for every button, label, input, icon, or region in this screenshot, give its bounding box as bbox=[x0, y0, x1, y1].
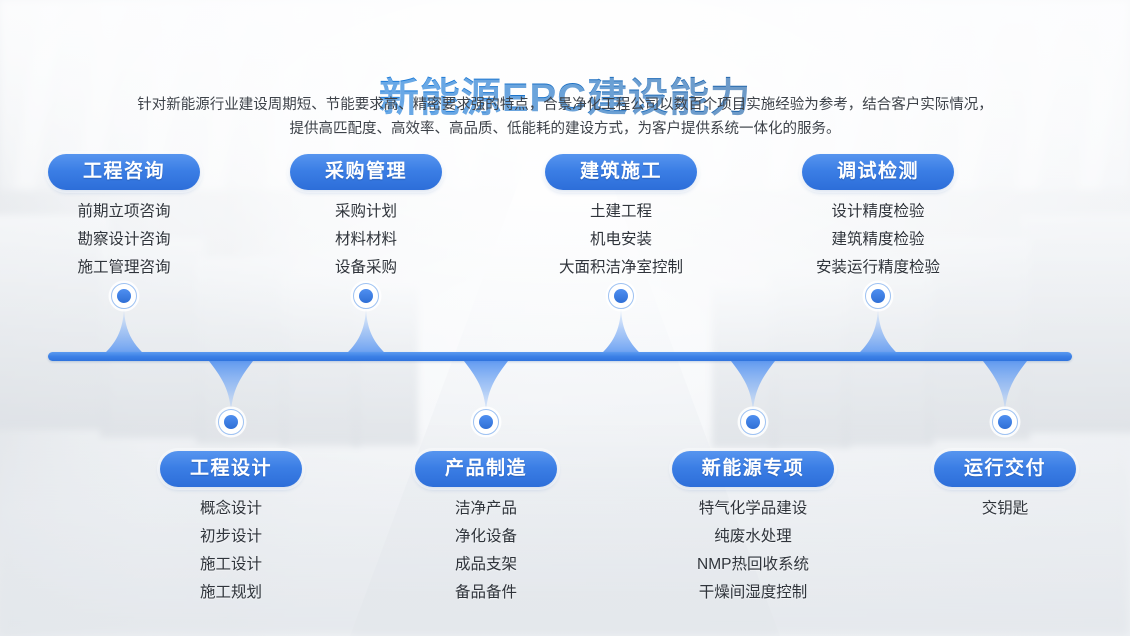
node-items-new-energy-special: 特气化学品建设 纯废水处理 NMP热回收系统 干燥间湿度控制 bbox=[663, 495, 843, 607]
timeline-node-dot-construction[interactable] bbox=[608, 283, 634, 309]
list-item: 设计精度检验 bbox=[790, 198, 966, 226]
infographic-canvas: 新能源EPC建设能力 针对新能源行业建设周期短、节能要求高、精密要求强的特点，合… bbox=[0, 0, 1130, 636]
timeline-node-dot-operation-delivery[interactable] bbox=[992, 409, 1018, 435]
content-layer: 新能源EPC建设能力 针对新能源行业建设周期短、节能要求高、精密要求强的特点，合… bbox=[0, 0, 1130, 636]
timeline-node-dot-product-manufacturing[interactable] bbox=[473, 409, 499, 435]
list-item: 初步设计 bbox=[160, 523, 302, 551]
node-pill-operation-delivery[interactable]: 运行交付 bbox=[934, 451, 1076, 487]
list-item: 施工管理咨询 bbox=[48, 254, 200, 282]
node-items-engineering-design: 概念设计 初步设计 施工设计 施工规划 bbox=[160, 495, 302, 607]
list-item: 洁净产品 bbox=[415, 495, 557, 523]
list-item: 备品备件 bbox=[415, 579, 557, 607]
node-items-product-manufacturing: 洁净产品 净化设备 成品支架 备品备件 bbox=[415, 495, 557, 607]
list-item: 施工规划 bbox=[160, 579, 302, 607]
list-item: 土建工程 bbox=[521, 198, 721, 226]
subtitle-line-2: 提供高匹配度、高效率、高品质、低能耗的建设方式，为客户提供系统一体化的服务。 bbox=[70, 117, 1060, 141]
connector-engineering-design bbox=[209, 361, 253, 413]
timeline-bar bbox=[48, 352, 1072, 361]
connector-commissioning-inspection bbox=[856, 309, 900, 356]
connector-new-energy-special bbox=[731, 361, 775, 413]
list-item: 概念设计 bbox=[160, 495, 302, 523]
node-items-engineering-consulting: 前期立项咨询 勘察设计咨询 施工管理咨询 bbox=[48, 198, 200, 282]
list-item: 施工设计 bbox=[160, 551, 302, 579]
node-pill-construction[interactable]: 建筑施工 bbox=[545, 154, 697, 190]
list-item: 特气化学品建设 bbox=[663, 495, 843, 523]
node-items-commissioning-inspection: 设计精度检验 建筑精度检验 安装运行精度检验 bbox=[790, 198, 966, 282]
list-item: 采购计划 bbox=[290, 198, 442, 226]
node-pill-engineering-design[interactable]: 工程设计 bbox=[160, 451, 302, 487]
node-pill-commissioning-inspection[interactable]: 调试检测 bbox=[802, 154, 954, 190]
node-pill-procurement-management[interactable]: 采购管理 bbox=[290, 154, 442, 190]
connector-operation-delivery bbox=[983, 361, 1027, 413]
list-item: 建筑精度检验 bbox=[790, 226, 966, 254]
list-item: 纯废水处理 bbox=[663, 523, 843, 551]
list-item: 前期立项咨询 bbox=[48, 198, 200, 226]
node-pill-new-energy-special[interactable]: 新能源专项 bbox=[672, 451, 834, 487]
node-pill-product-manufacturing[interactable]: 产品制造 bbox=[415, 451, 557, 487]
list-item: 勘察设计咨询 bbox=[48, 226, 200, 254]
connector-engineering-consulting bbox=[102, 309, 146, 356]
timeline-node-dot-commissioning-inspection[interactable] bbox=[865, 283, 891, 309]
timeline-node-dot-engineering-consulting[interactable] bbox=[111, 283, 137, 309]
list-item: 净化设备 bbox=[415, 523, 557, 551]
subtitle-line-1: 针对新能源行业建设周期短、节能要求高、精密要求强的特点，合景净化工程公司以数百个… bbox=[70, 93, 1060, 117]
connector-product-manufacturing bbox=[464, 361, 508, 413]
list-item: 干燥间湿度控制 bbox=[663, 579, 843, 607]
timeline-node-dot-new-energy-special[interactable] bbox=[740, 409, 766, 435]
list-item: 材料材料 bbox=[290, 226, 442, 254]
connector-construction bbox=[599, 309, 643, 356]
node-pill-engineering-consulting[interactable]: 工程咨询 bbox=[48, 154, 200, 190]
timeline-node-dot-engineering-design[interactable] bbox=[218, 409, 244, 435]
node-items-operation-delivery: 交钥匙 bbox=[934, 495, 1076, 523]
list-item: 交钥匙 bbox=[934, 495, 1076, 523]
list-item: NMP热回收系统 bbox=[663, 551, 843, 579]
list-item: 机电安装 bbox=[521, 226, 721, 254]
page-subtitle: 针对新能源行业建设周期短、节能要求高、精密要求强的特点，合景净化工程公司以数百个… bbox=[70, 93, 1060, 141]
node-items-construction: 土建工程 机电安装 大面积洁净室控制 bbox=[521, 198, 721, 282]
list-item: 大面积洁净室控制 bbox=[521, 254, 721, 282]
list-item: 成品支架 bbox=[415, 551, 557, 579]
list-item: 设备采购 bbox=[290, 254, 442, 282]
node-items-procurement-management: 采购计划 材料材料 设备采购 bbox=[290, 198, 442, 282]
timeline-node-dot-procurement-management[interactable] bbox=[353, 283, 379, 309]
connector-procurement-management bbox=[344, 309, 388, 356]
list-item: 安装运行精度检验 bbox=[790, 254, 966, 282]
